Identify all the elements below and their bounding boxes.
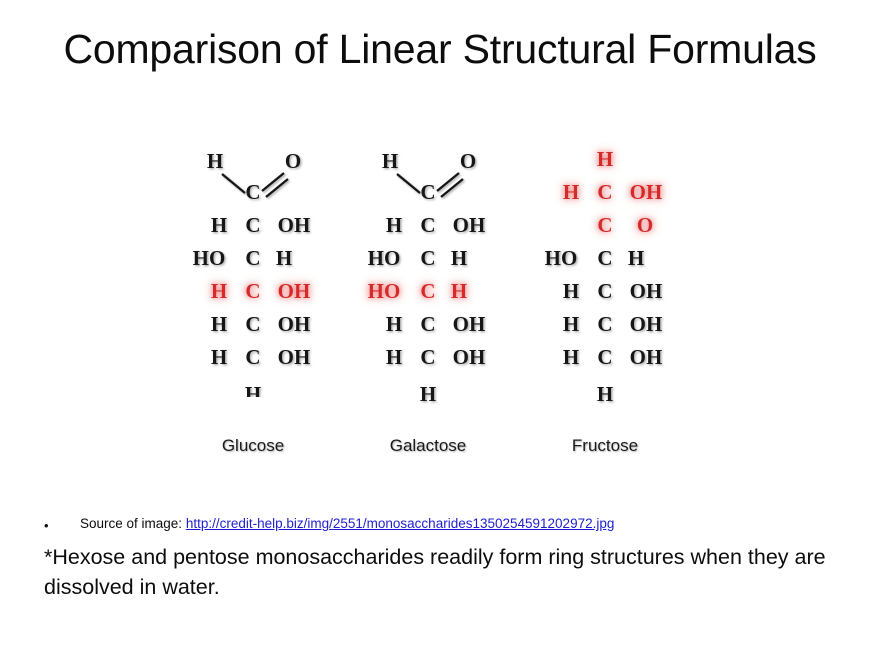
atom-c-1: C (597, 180, 612, 204)
atom-right-5: OH (278, 312, 311, 336)
bond-diagonal-h-1 (222, 174, 245, 193)
atom-h-1: H (207, 149, 223, 173)
atom-o-1: O (285, 149, 301, 173)
atom-c-1: C (245, 180, 260, 204)
bond-diagonal-h-1 (397, 174, 420, 193)
atom-right-4: OH (278, 279, 311, 303)
atom-c-5: C (420, 312, 435, 336)
galactose-structure-diagram: CHOCHOHCHOHCHOHCHOHCHOHH (328, 158, 528, 428)
molecule-comparison-figure: CHOCHOHCHOHCHOHCHOHCHOHH Glucose CHOCHOH… (0, 158, 880, 488)
atom-left-3: HO (368, 246, 401, 270)
molecule-label-glucose: Glucose (153, 436, 353, 456)
atom-c-3: C (245, 246, 260, 270)
bond-double-b-1 (441, 179, 463, 197)
page-title: Comparison of Linear Structural Formulas (60, 24, 820, 74)
atom-right-3: H (451, 246, 467, 270)
source-image-link[interactable]: http://credit-help.biz/img/2551/monosacc… (186, 516, 615, 531)
atom-right-3: H (628, 246, 644, 270)
atom-right-2: OH (278, 213, 311, 237)
atom-left-2: H (211, 213, 227, 237)
atom-left-4: H (211, 279, 227, 303)
atom-left-3: HO (193, 246, 226, 270)
atom-c-6: C (245, 345, 260, 369)
bond-double-a-1 (437, 173, 459, 191)
atom-left-6: H (386, 345, 402, 369)
atom-c-2: C (245, 213, 260, 237)
atom-c-6: C (420, 345, 435, 369)
atom-right-5: OH (453, 312, 486, 336)
atom-c-5: C (245, 312, 260, 336)
molecule-label-galactose: Galactose (328, 436, 528, 456)
atom-o-1: O (460, 149, 476, 173)
glucose-structure-diagram: CHOCHOHCHOHCHOHCHOHCHOHH (153, 158, 353, 428)
molecule-glucose: CHOCHOHCHOHCHOHCHOHCHOHH Glucose (153, 158, 353, 488)
atom-right-4: OH (630, 279, 663, 303)
atom-c-6: C (597, 345, 612, 369)
atom-h-terminal: H (420, 382, 436, 406)
atom-left-1: H (563, 180, 579, 204)
atom-right-6: OH (278, 345, 311, 369)
atom-right-1: OH (630, 180, 663, 204)
atom-left-5: H (563, 312, 579, 336)
atom-left-4: H (563, 279, 579, 303)
source-label-text: Source of image: (80, 516, 186, 531)
atom-left-5: H (211, 312, 227, 336)
atom-left-5: H (386, 312, 402, 336)
atom-left-6: H (211, 345, 227, 369)
atom-c-2: C (597, 213, 612, 237)
atom-right-6: OH (630, 345, 663, 369)
footnote-text: *Hexose and pentose monosaccharides read… (44, 542, 844, 602)
bond-double-a-1 (262, 173, 284, 191)
atom-left-3: HO (545, 246, 578, 270)
atom-o-2: O (637, 213, 653, 237)
molecule-label-fructose: Fructose (505, 436, 705, 456)
atom-right-4: H (451, 279, 467, 303)
atom-c-2: C (420, 213, 435, 237)
atom-c-3: C (420, 246, 435, 270)
atom-right-3: H (276, 246, 292, 270)
bond-double-b-1 (266, 179, 288, 197)
bullet-icon: • (44, 520, 49, 532)
fructose-structure-diagram: HCHOHCOCHOHCHOHCHOHCHOHH (505, 158, 705, 428)
atom-left-6: H (563, 345, 579, 369)
atom-right-6: OH (453, 345, 486, 369)
atom-right-5: OH (630, 312, 663, 336)
atom-h-top: H (597, 147, 613, 171)
atom-c-1: C (420, 180, 435, 204)
atom-c-3: C (597, 246, 612, 270)
source-of-image-label: Source of image: http://credit-help.biz/… (80, 514, 614, 534)
molecule-galactose: CHOCHOHCHOHCHOHCHOHCHOHH Galactose (328, 158, 528, 488)
atom-h-terminal: H (245, 382, 261, 406)
atom-c-5: C (597, 312, 612, 336)
atom-c-4: C (245, 279, 260, 303)
molecule-fructose: HCHOHCOCHOHCHOHCHOHCHOHH Fructose (505, 158, 705, 488)
source-bullet-row: • Source of image: http://credit-help.bi… (40, 514, 840, 534)
atom-left-2: H (386, 213, 402, 237)
atom-left-4: HO (368, 279, 401, 303)
atom-h-terminal: H (597, 382, 613, 406)
atom-c-4: C (420, 279, 435, 303)
atom-right-2: OH (453, 213, 486, 237)
atom-h-1: H (382, 149, 398, 173)
atom-c-4: C (597, 279, 612, 303)
